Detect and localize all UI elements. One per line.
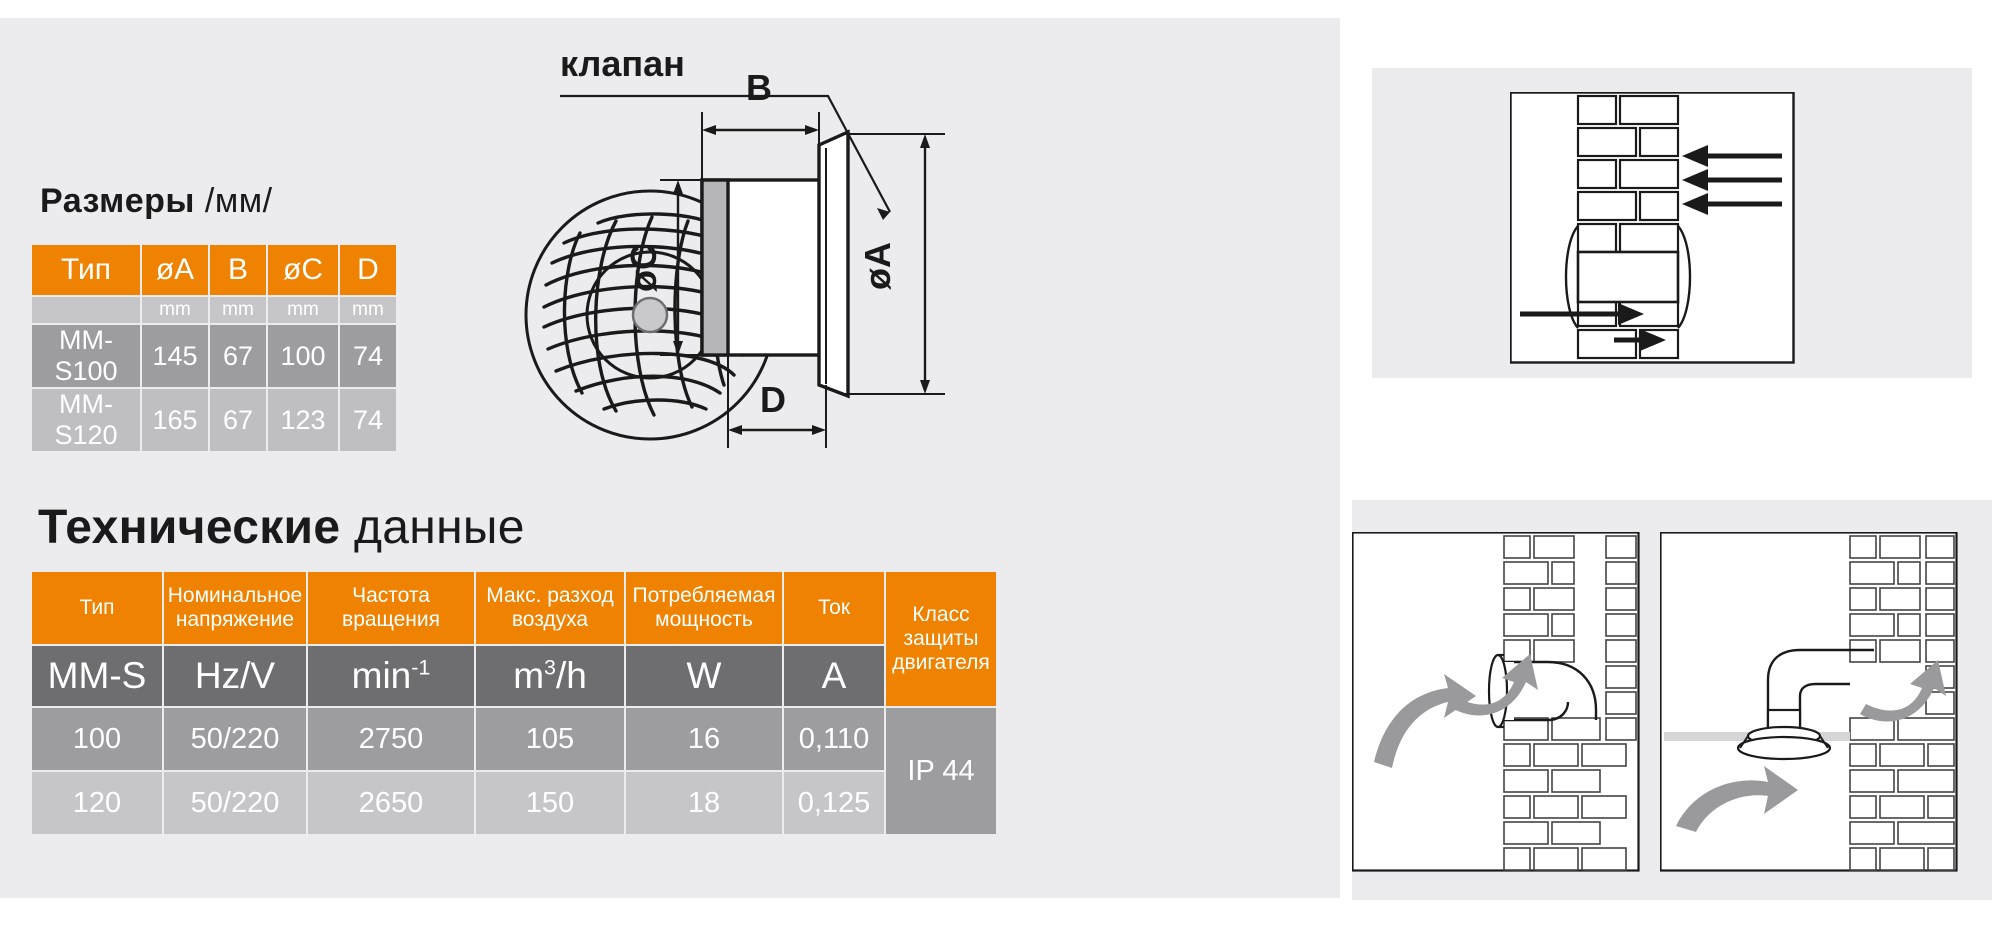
- table-units-row: MM-S Hz/V min-1 m3/h W A: [32, 646, 996, 706]
- tech-unit-power: W: [626, 646, 782, 706]
- tech-col-voltage: Номинальное напряжение: [164, 572, 306, 644]
- tech-unit-speed-sup: -1: [411, 656, 430, 680]
- valve-callout-label: клапан: [560, 43, 685, 84]
- protection-class-value: IP 44: [886, 708, 996, 834]
- tech-col-voltage-l1: Номинальное: [164, 584, 306, 608]
- table-units-row: mm mm mm mm: [32, 297, 396, 323]
- tech-unit-speed-base: min: [352, 655, 412, 696]
- cell: 74: [340, 389, 396, 451]
- dim-unit-d: mm: [340, 297, 396, 323]
- tech-unit-airflow: m3/h: [476, 646, 624, 706]
- dimensions-heading: Размеры /мм/: [40, 182, 273, 221]
- table-row: MM-S100 145 67 100 74: [32, 325, 396, 387]
- tech-unit-speed: min-1: [308, 646, 474, 706]
- cell: 145: [142, 325, 208, 387]
- cell: MM-S120: [32, 389, 140, 451]
- tech-unit-voltage: Hz/V: [164, 646, 306, 706]
- cell: 50/220: [164, 772, 306, 834]
- tech-col-type: Тип: [32, 572, 162, 644]
- cell: 0,125: [784, 772, 884, 834]
- tech-unit-airflow-tail: /h: [556, 655, 587, 696]
- cell: 18: [626, 772, 782, 834]
- cell: 100: [268, 325, 338, 387]
- dim-unit-oc: mm: [268, 297, 338, 323]
- tech-col-protection-l2: защиты: [886, 627, 996, 651]
- tech-col-protection-l1: Класс: [886, 603, 996, 627]
- tech-col-power: Потребляемая мощность: [626, 572, 782, 644]
- dimensions-heading-bold: Размеры: [40, 182, 195, 220]
- tech-col-airflow: Макс. разход воздуха: [476, 572, 624, 644]
- dim-label-oa: øA: [857, 242, 898, 290]
- cell: 0,110: [784, 708, 884, 770]
- dim-label-oc: øC: [623, 244, 664, 292]
- tech-col-speed-l2: вращения: [308, 608, 474, 632]
- technical-heading: Технические данные: [38, 500, 525, 555]
- tech-col-protection: Класс защиты двигателя: [886, 572, 996, 706]
- table-row: 120 50/220 2650 150 18 0,125: [32, 772, 996, 834]
- tech-col-current-l1: Ток: [784, 596, 884, 620]
- dim-label-b: B: [746, 67, 772, 108]
- dim-unit-b: mm: [210, 297, 266, 323]
- cell: 100: [32, 708, 162, 770]
- tech-col-airflow-l1: Макс. разход: [476, 584, 624, 608]
- table-header-row: Тип Номинальное напряжение Частота враще…: [32, 572, 996, 644]
- dim-col-type: Тип: [32, 245, 140, 295]
- table-row: 100 50/220 2750 105 16 0,110 IP 44: [32, 708, 996, 770]
- cell: 123: [268, 389, 338, 451]
- dim-col-d: D: [340, 245, 396, 295]
- tech-col-protection-l3: двигателя: [886, 651, 996, 675]
- dimensions-table: Тип øA B øC D mm mm mm mm MM-S100 145 67…: [30, 243, 398, 453]
- tech-col-type-l1: Тип: [32, 596, 162, 620]
- tech-col-power-l2: мощность: [626, 608, 782, 632]
- cell: 150: [476, 772, 624, 834]
- install-diagram-duct: [1660, 532, 1970, 872]
- dimensions-heading-light: /мм/: [195, 182, 273, 220]
- cell: 67: [210, 389, 266, 451]
- cell: 120: [32, 772, 162, 834]
- technical-heading-bold: Технические: [38, 501, 340, 554]
- tech-col-power-l1: Потребляемая: [626, 584, 782, 608]
- cell: 16: [626, 708, 782, 770]
- tech-col-airflow-l2: воздуха: [476, 608, 624, 632]
- table-header-row: Тип øA B øC D: [32, 245, 396, 295]
- dim-unit-oa: mm: [142, 297, 208, 323]
- cell: MM-S100: [32, 325, 140, 387]
- tech-col-speed-l1: Частота: [308, 584, 474, 608]
- install-diagram-wall: [1352, 532, 1652, 872]
- tech-unit-airflow-sup: 3: [544, 656, 556, 680]
- cell: 50/220: [164, 708, 306, 770]
- cell: 165: [142, 389, 208, 451]
- cell: 74: [340, 325, 396, 387]
- dim-col-b: B: [210, 245, 266, 295]
- tech-col-current: Ток: [784, 572, 884, 644]
- cell: 2650: [308, 772, 474, 834]
- section-dimension-drawing: клапан B øC øA D: [560, 40, 1140, 460]
- wall-mount-diagram: [1510, 92, 1810, 364]
- cell: 105: [476, 708, 624, 770]
- technical-data-table: Тип Номинальное напряжение Частота враще…: [30, 570, 998, 836]
- dim-unit-type: [32, 297, 140, 323]
- tech-col-speed: Частота вращения: [308, 572, 474, 644]
- tech-unit-type: MM-S: [32, 646, 162, 706]
- dim-label-d: D: [760, 379, 786, 420]
- technical-heading-light: данные: [340, 501, 524, 554]
- tech-unit-airflow-base: m: [513, 655, 544, 696]
- table-row: MM-S120 165 67 123 74: [32, 389, 396, 451]
- dim-col-oa: øA: [142, 245, 208, 295]
- cell: 2750: [308, 708, 474, 770]
- tech-col-voltage-l2: напряжение: [164, 608, 306, 632]
- tech-unit-current: A: [784, 646, 884, 706]
- cell: 67: [210, 325, 266, 387]
- dim-col-oc: øC: [268, 245, 338, 295]
